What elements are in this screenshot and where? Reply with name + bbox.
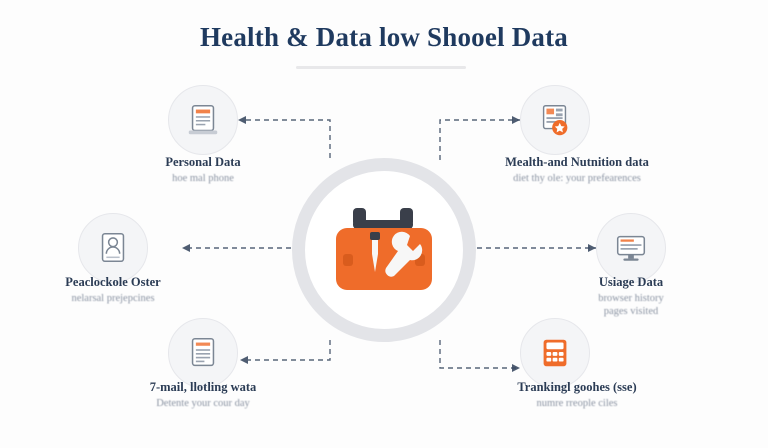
user-profile-icon [94,229,132,267]
clipboard-chart-icon [536,101,574,139]
document-page-icon [184,101,222,139]
node-email-tolling-data[interactable] [168,318,238,388]
node-usage-data[interactable] [596,213,666,283]
node-health-nutrition-data[interactable] [520,85,590,155]
toolbox-wrench-icon [326,196,442,302]
monitor-screen-icon [612,229,650,267]
node-tracking-cookies[interactable] [520,318,590,388]
diagram-canvas: Health & Data low Shooel Data [0,0,768,448]
form-list-icon [184,334,222,372]
calculator-icon [536,334,574,372]
node-personal-data[interactable] [168,85,238,155]
node-peaclockole-oster[interactable] [78,213,148,283]
